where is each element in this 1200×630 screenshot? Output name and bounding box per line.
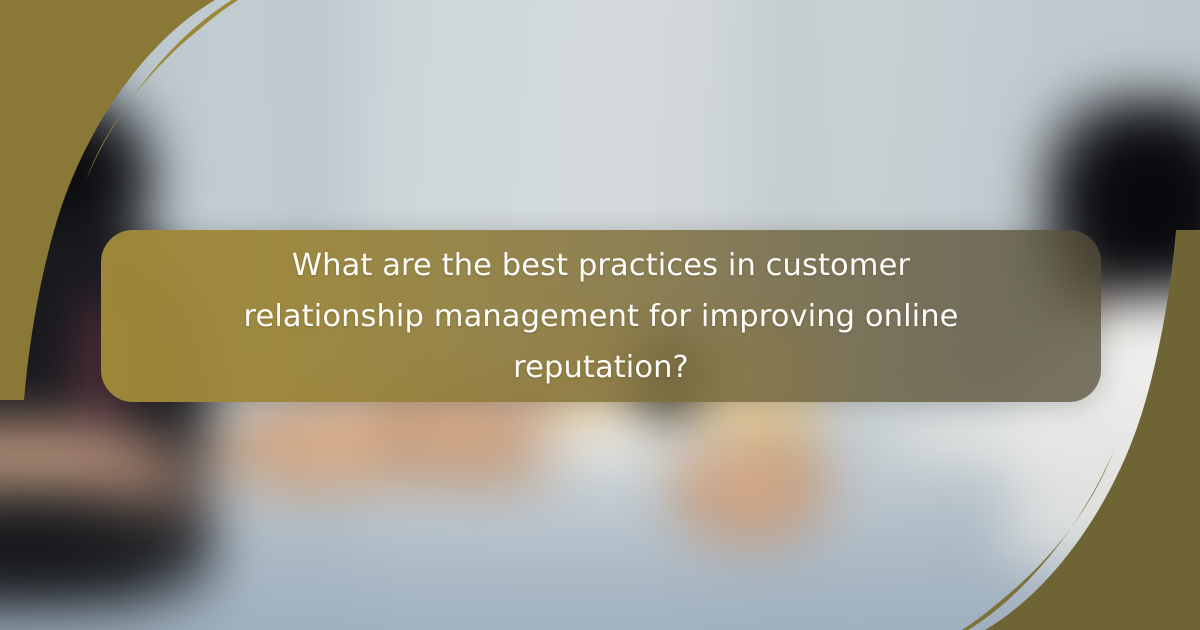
paper-right	[880, 415, 1110, 459]
paper-centre	[520, 415, 730, 463]
question-text: What are the best practices in customer …	[221, 240, 981, 393]
question-card: What are the best practices in customer …	[101, 230, 1101, 402]
foreground-shadow	[0, 480, 220, 610]
social-share-card: What are the best practices in customer …	[0, 0, 1200, 630]
